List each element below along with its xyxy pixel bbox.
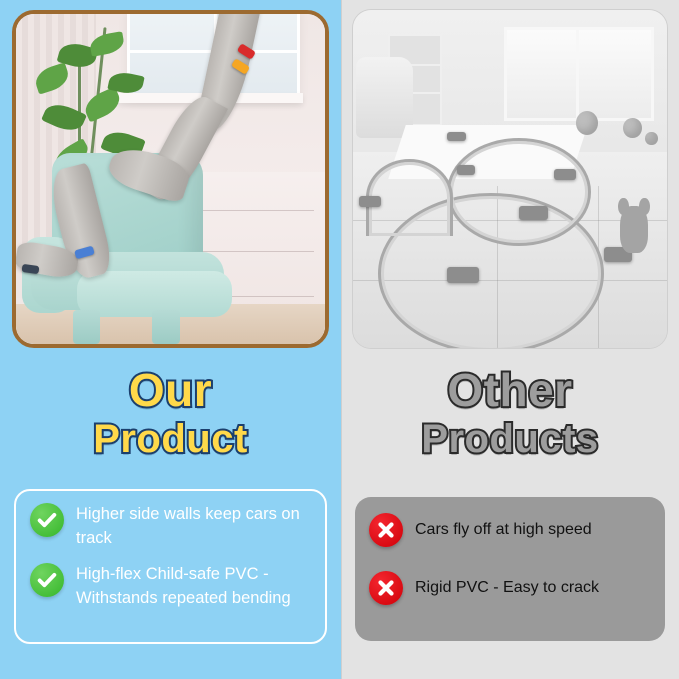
ball (576, 111, 598, 135)
other-products-photo-frame (353, 10, 667, 348)
check-circle-icon (30, 503, 64, 537)
our-product-photo-frame (12, 10, 329, 348)
toy-car (519, 206, 547, 220)
drawback-item: Rigid PVC - Easy to crack (369, 571, 651, 605)
drawback-item: Cars fly off at high speed (369, 513, 651, 547)
cross-circle-icon (369, 513, 403, 547)
column-divider (341, 0, 342, 679)
heading-line-2: Product (0, 418, 341, 460)
window (504, 27, 654, 121)
benefit-text: Higher side walls keep cars on track (76, 503, 311, 551)
our-product-photo (16, 14, 325, 344)
check-circle-icon (30, 563, 64, 597)
toy-car (457, 165, 476, 174)
toy-car (359, 196, 381, 207)
rigid-track-loop (447, 138, 591, 245)
toy-car (447, 132, 466, 141)
drawbacks-box: Cars fly off at high speed Rigid PVC - E… (355, 497, 665, 641)
benefit-item: Higher side walls keep cars on track (30, 503, 311, 551)
benefits-box: Higher side walls keep cars on track Hig… (14, 489, 327, 644)
other-products-column: Other Products Cars fly off at high spee… (341, 0, 679, 679)
drawback-text: Rigid PVC - Easy to crack (415, 576, 599, 599)
heading-line-1: Our (0, 366, 341, 414)
other-products-photo (353, 10, 667, 348)
benefit-item: High-flex Child-safe PVC - Withstands re… (30, 563, 311, 611)
chair-leg (152, 310, 179, 344)
cross-circle-icon (369, 571, 403, 605)
our-product-column: Our Product Higher side walls keep cars … (0, 0, 341, 679)
toy-car (447, 267, 478, 283)
heading-line-2: Products (341, 418, 679, 460)
other-products-heading: Other Products (341, 366, 679, 460)
our-product-photo-wrap (12, 10, 329, 348)
drawback-text: Cars fly off at high speed (415, 518, 592, 541)
our-product-heading: Our Product (0, 366, 341, 460)
ball (645, 132, 658, 146)
heading-line-1: Other (341, 366, 679, 414)
toy-car (554, 169, 576, 180)
chair-leg (73, 310, 100, 344)
teddy-bear (620, 206, 648, 253)
benefit-text: High-flex Child-safe PVC - Withstands re… (76, 563, 311, 611)
other-products-photo-wrap (353, 10, 667, 348)
comparison-poster: Our Product Higher side walls keep cars … (0, 0, 679, 679)
